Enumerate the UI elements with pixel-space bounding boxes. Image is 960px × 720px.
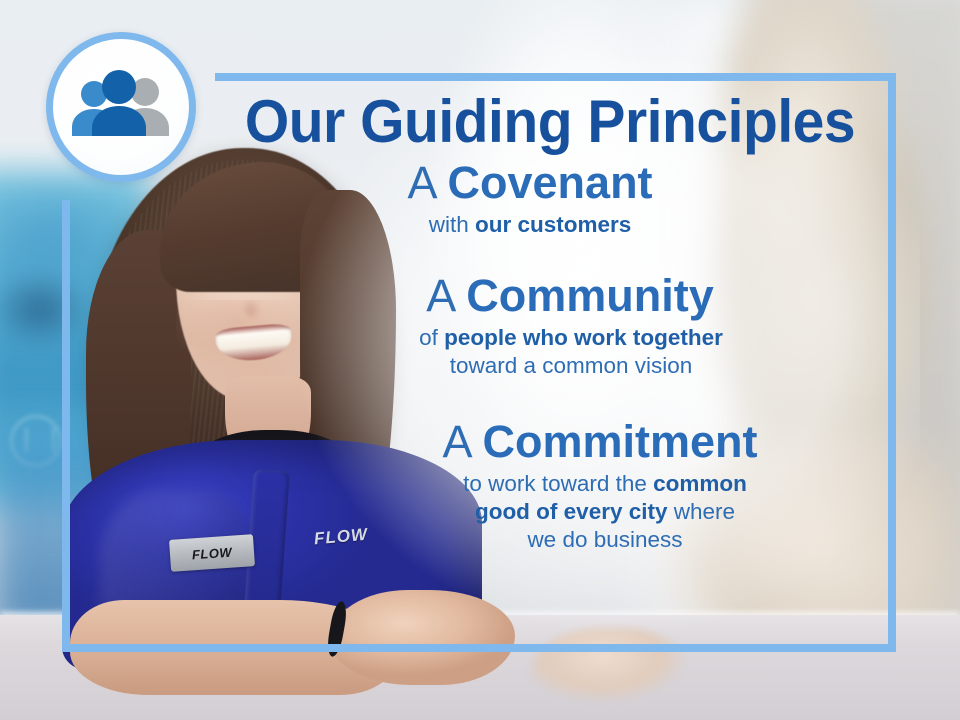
principle-commitment-subline-2: good of every city where	[310, 498, 900, 526]
sub-run-bold: common	[653, 471, 747, 496]
sub-run: of	[419, 325, 444, 350]
principle-community: A Community of people who work together …	[200, 273, 900, 380]
photo-showroom-car	[0, 255, 100, 375]
principle-community-subline-1: of people who work together	[242, 324, 900, 352]
principle-community-article: A	[426, 270, 454, 321]
principle-commitment-article: A	[442, 416, 470, 467]
principle-community-headline: A Community	[200, 273, 900, 319]
principle-covenant-subtext: with our customers	[200, 211, 900, 239]
sub-run-bold: good of every city	[475, 499, 668, 524]
guiding-principles-graphic: FLOW FLOW Our Guiding Principles	[0, 0, 960, 720]
employee-clasped-hands	[330, 590, 515, 685]
sub-run-bold: our customers	[475, 212, 631, 237]
principle-commitment-keyword: Commitment	[483, 416, 758, 467]
principle-commitment: A Commitment to work toward the common g…	[200, 419, 900, 554]
principle-covenant-keyword: Covenant	[448, 157, 653, 208]
customer-hand	[530, 628, 690, 720]
principle-covenant: A Covenant with our customers	[200, 160, 900, 239]
people-group-icon	[69, 70, 173, 144]
sub-run: with	[429, 212, 475, 237]
copy-block: Our Guiding Principles A Covenant with o…	[200, 80, 900, 554]
principle-commitment-subline-1: to work toward the common	[310, 470, 900, 498]
sub-run: toward a common vision	[450, 353, 693, 378]
principle-commitment-subline-3: we do business	[310, 526, 900, 554]
principle-community-subtext: of people who work together toward a com…	[200, 324, 900, 380]
sub-run-bold: people who work together	[444, 325, 723, 350]
sub-run: we do business	[527, 527, 682, 552]
page-title: Our Guiding Principles	[218, 80, 883, 152]
principle-community-keyword: Community	[466, 270, 714, 321]
principle-commitment-headline: A Commitment	[200, 419, 900, 465]
sub-run: where	[668, 499, 736, 524]
principle-community-subline-2: toward a common vision	[242, 352, 900, 380]
principle-covenant-subline-1: with our customers	[200, 211, 860, 239]
principle-covenant-article: A	[407, 157, 435, 208]
principle-commitment-subtext: to work toward the common good of every …	[200, 470, 900, 554]
people-group-icon-badge	[46, 32, 196, 182]
sub-run: to work toward the	[463, 471, 653, 496]
principle-covenant-headline: A Covenant	[200, 160, 900, 206]
